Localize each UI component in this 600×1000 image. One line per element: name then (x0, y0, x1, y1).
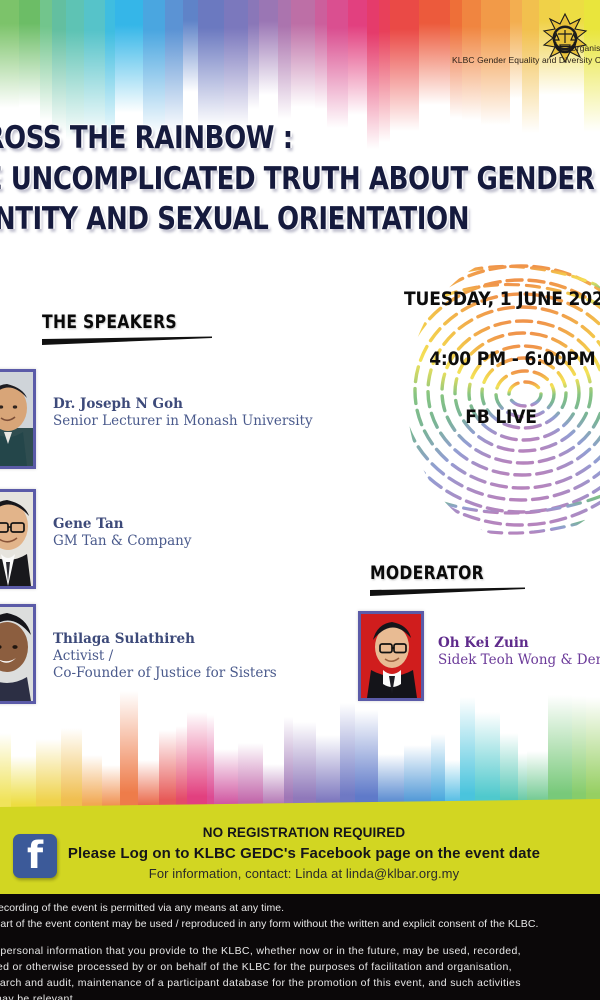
event-date: TUESDAY, 1 JUNE 2021 (404, 288, 600, 310)
event-poster: Organised by KLBC Gender Equality and Di… (0, 0, 600, 1000)
title-line-2: THE UNCOMPLICATED TRUTH ABOUT GENDER (0, 165, 534, 195)
registration-notice: NO REGISTRATION REQUIRED (8, 825, 600, 840)
speaker-role-line-1: Activist / (53, 648, 277, 666)
speaker-portrait-icon (0, 369, 36, 469)
moderator-row: Oh Kei Zuin Sidek Teoh Wong & Dennis (358, 611, 600, 701)
disclaimer-line-6: as may be relevant. (0, 992, 600, 1000)
moderator-name: Oh Kei Zuin (438, 635, 600, 652)
registration-band: f NO REGISTRATION REQUIRED Please Log on… (0, 812, 600, 894)
disclaimer-line-1: No recording of the event is permitted v… (0, 901, 600, 917)
speaker-info: Thilaga Sulathireh Activist / Co-Founder… (53, 604, 277, 683)
moderator-heading-underline (370, 587, 525, 596)
speaker-info: Dr. Joseph N Goh Senior Lecturer in Mona… (53, 369, 313, 430)
facebook-instruction: Please Log on to KLBC GEDC's Facebook pa… (8, 845, 600, 862)
rainbow-bar (278, 0, 292, 119)
event-time: 4:00 PM - 6:00PM (404, 348, 600, 370)
organiser-committee: KLBC Gender Equality and Diversity Commi… (452, 54, 600, 66)
speaker-name: Thilaga Sulathireh (53, 631, 277, 648)
title-line-1: ACROSS THE RAINBOW : (0, 124, 534, 154)
contact-info: For information, contact: Linda at linda… (8, 866, 600, 881)
rainbow-bar (348, 0, 367, 115)
rainbow-bar (224, 0, 248, 127)
event-platform: FB LIVE (404, 406, 600, 428)
rainbow-bar (0, 0, 19, 108)
rainbow-bar (327, 0, 348, 128)
rainbow-bar (379, 0, 389, 142)
rainbow-bars-bottom (0, 690, 600, 815)
speakers-heading-label: THE SPEAKERS (42, 311, 181, 333)
rainbow-bar (248, 0, 258, 109)
moderator-portrait-icon (358, 611, 424, 701)
rainbow-bar (19, 0, 40, 106)
speaker-row: Thilaga Sulathireh Activist / Co-Founder… (0, 604, 277, 704)
moderator-info: Oh Kei Zuin Sidek Teoh Wong & Dennis (438, 611, 600, 669)
rainbow-bar (586, 697, 600, 815)
disclaimer-line-5: research and audit, maintenance of a par… (0, 976, 600, 992)
disclaimer-line-3: The personal information that you provid… (0, 944, 600, 960)
rainbow-bar (390, 0, 419, 131)
rainbow-bar (572, 696, 586, 815)
disclaimer-line-2: No part of the event content may be used… (0, 917, 600, 933)
rainbow-bar (84, 0, 105, 139)
rainbow-bar (40, 0, 52, 121)
rainbow-bar (460, 697, 475, 816)
speaker-row: Gene Tan GM Tan & Company (0, 489, 191, 589)
organiser-text: Organised by KLBC Gender Equality and Di… (452, 42, 600, 67)
rainbow-bar (143, 0, 165, 136)
moderator-heading: MODERATOR (370, 562, 525, 596)
speaker-role-line-2: Co-Founder of Justice for Sisters (53, 665, 277, 683)
organiser-label: Organised by (452, 42, 600, 54)
rainbow-bar (183, 0, 199, 92)
speaker-info: Gene Tan GM Tan & Company (53, 489, 191, 550)
rainbow-bar (259, 0, 278, 95)
speaker-name: Dr. Joseph N Goh (53, 396, 313, 413)
speaker-name: Gene Tan (53, 516, 191, 533)
speaker-role: GM Tan & Company (53, 533, 191, 551)
event-details: TUESDAY, 1 JUNE 2021 4:00 PM - 6:00PM FB… (404, 288, 600, 428)
speakers-heading: THE SPEAKERS (42, 311, 212, 345)
rainbow-bar (419, 0, 450, 105)
speaker-role: Senior Lecturer in Monash University (53, 413, 313, 431)
rainbow-bar (115, 0, 143, 113)
moderator-role: Sidek Teoh Wong & Dennis (438, 652, 600, 670)
rainbow-bar (52, 0, 66, 134)
rainbow-bar (198, 0, 224, 127)
disclaimer-line-4: stored or otherwise processed by or on b… (0, 960, 600, 976)
title-line-3: IDENTITY AND SEXUAL ORIENTATION (0, 205, 534, 235)
rainbow-bar (291, 0, 315, 107)
rainbow-bar (165, 0, 182, 133)
speaker-portrait-icon (0, 604, 36, 704)
speaker-row: Dr. Joseph N Goh Senior Lecturer in Mona… (0, 369, 313, 469)
poster-title: ACROSS THE RAINBOW : THE UNCOMPLICATED T… (0, 124, 600, 234)
rainbow-bar (120, 691, 138, 815)
moderator-heading-label: MODERATOR (370, 562, 497, 584)
rainbow-bar (66, 0, 85, 140)
footer-disclaimer: No recording of the event is permitted v… (0, 894, 600, 1000)
rainbow-bar (315, 0, 327, 109)
speakers-heading-underline (42, 336, 212, 345)
rainbow-bar (548, 695, 572, 815)
speaker-portrait-icon (0, 489, 36, 589)
